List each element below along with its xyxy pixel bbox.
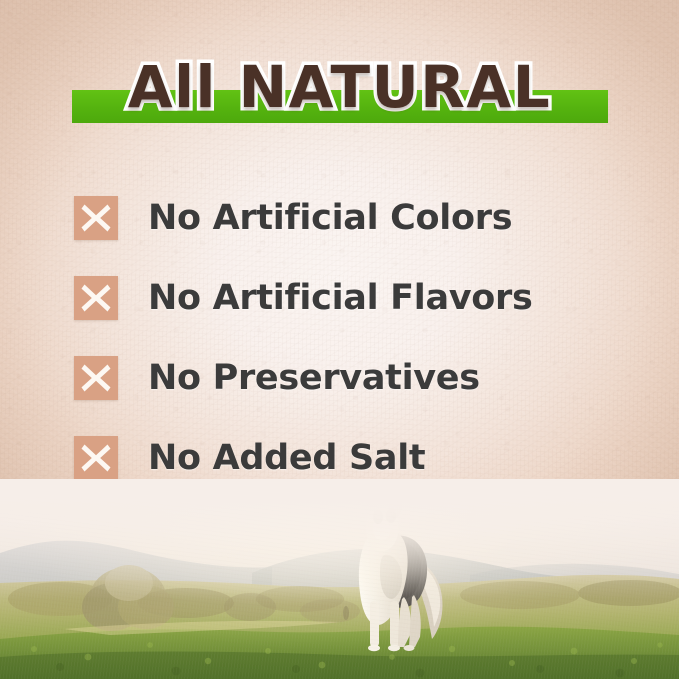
claim-item: No Artificial Colors [74, 178, 634, 258]
headline-banner: All NATURAL [0, 52, 679, 128]
claim-label: No Artificial Colors [148, 198, 512, 238]
lifestyle-photo [0, 479, 679, 679]
claim-label: No Artificial Flavors [148, 278, 533, 318]
claim-item: No Artificial Flavors [74, 258, 634, 338]
claim-label: No Added Salt [148, 438, 425, 478]
x-mark-icon [74, 356, 118, 400]
claims-list: No Artificial Colors No Artificial Flavo… [74, 178, 634, 498]
x-mark-icon [74, 196, 118, 240]
claim-label: No Preservatives [148, 358, 480, 398]
x-mark-icon [74, 436, 118, 480]
x-mark-icon [74, 276, 118, 320]
claim-item: No Preservatives [74, 338, 634, 418]
all-natural-feature-panel: All NATURAL No Artificial Colors No Arti… [0, 0, 679, 679]
page-title: All NATURAL [0, 52, 679, 122]
